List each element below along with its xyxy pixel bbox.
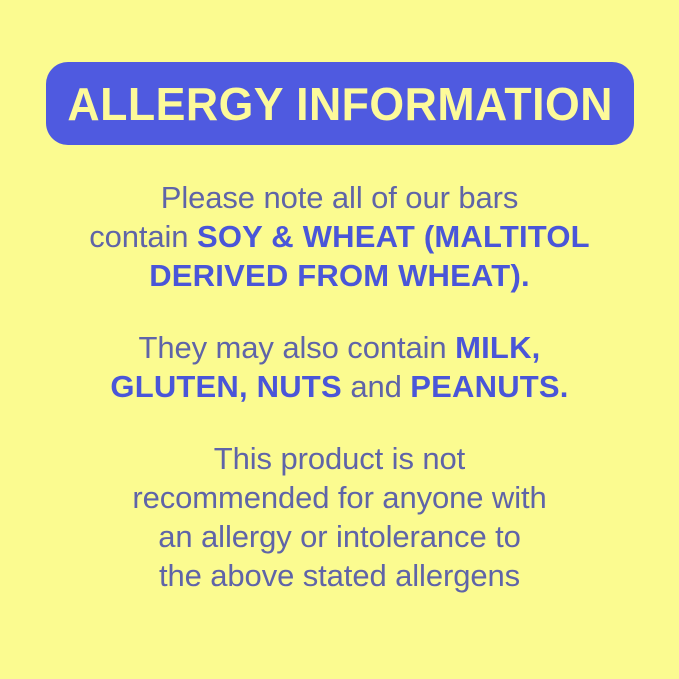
text-segment-plain: They may also contain [139, 330, 456, 365]
paragraph-contains-statement: Please note all of our bars contain SOY … [0, 178, 679, 295]
text-segment-emphasis-allergens: SOY & WHEAT (MALTITOL DERIVED FROM WHEAT… [149, 219, 590, 293]
allergy-information-panel: ALLERGY INFORMATION Please note all of o… [0, 0, 679, 679]
paragraph-not-recommended-statement: This product is not recommended for anyo… [0, 439, 679, 595]
allergy-information-body: Please note all of our bars contain SOY … [0, 178, 679, 595]
page-title: ALLERGY INFORMATION [67, 81, 612, 127]
text-segment-plain: This product is not recommended for anyo… [132, 441, 546, 593]
text-segment-emphasis-peanuts: PEANUTS. [410, 369, 568, 404]
paragraph-may-contain-statement: They may also contain MILK, GLUTEN, NUTS… [0, 328, 679, 406]
text-segment-plain-conjunction: and [342, 369, 410, 404]
allergy-information-header-bar: ALLERGY INFORMATION [46, 62, 634, 145]
